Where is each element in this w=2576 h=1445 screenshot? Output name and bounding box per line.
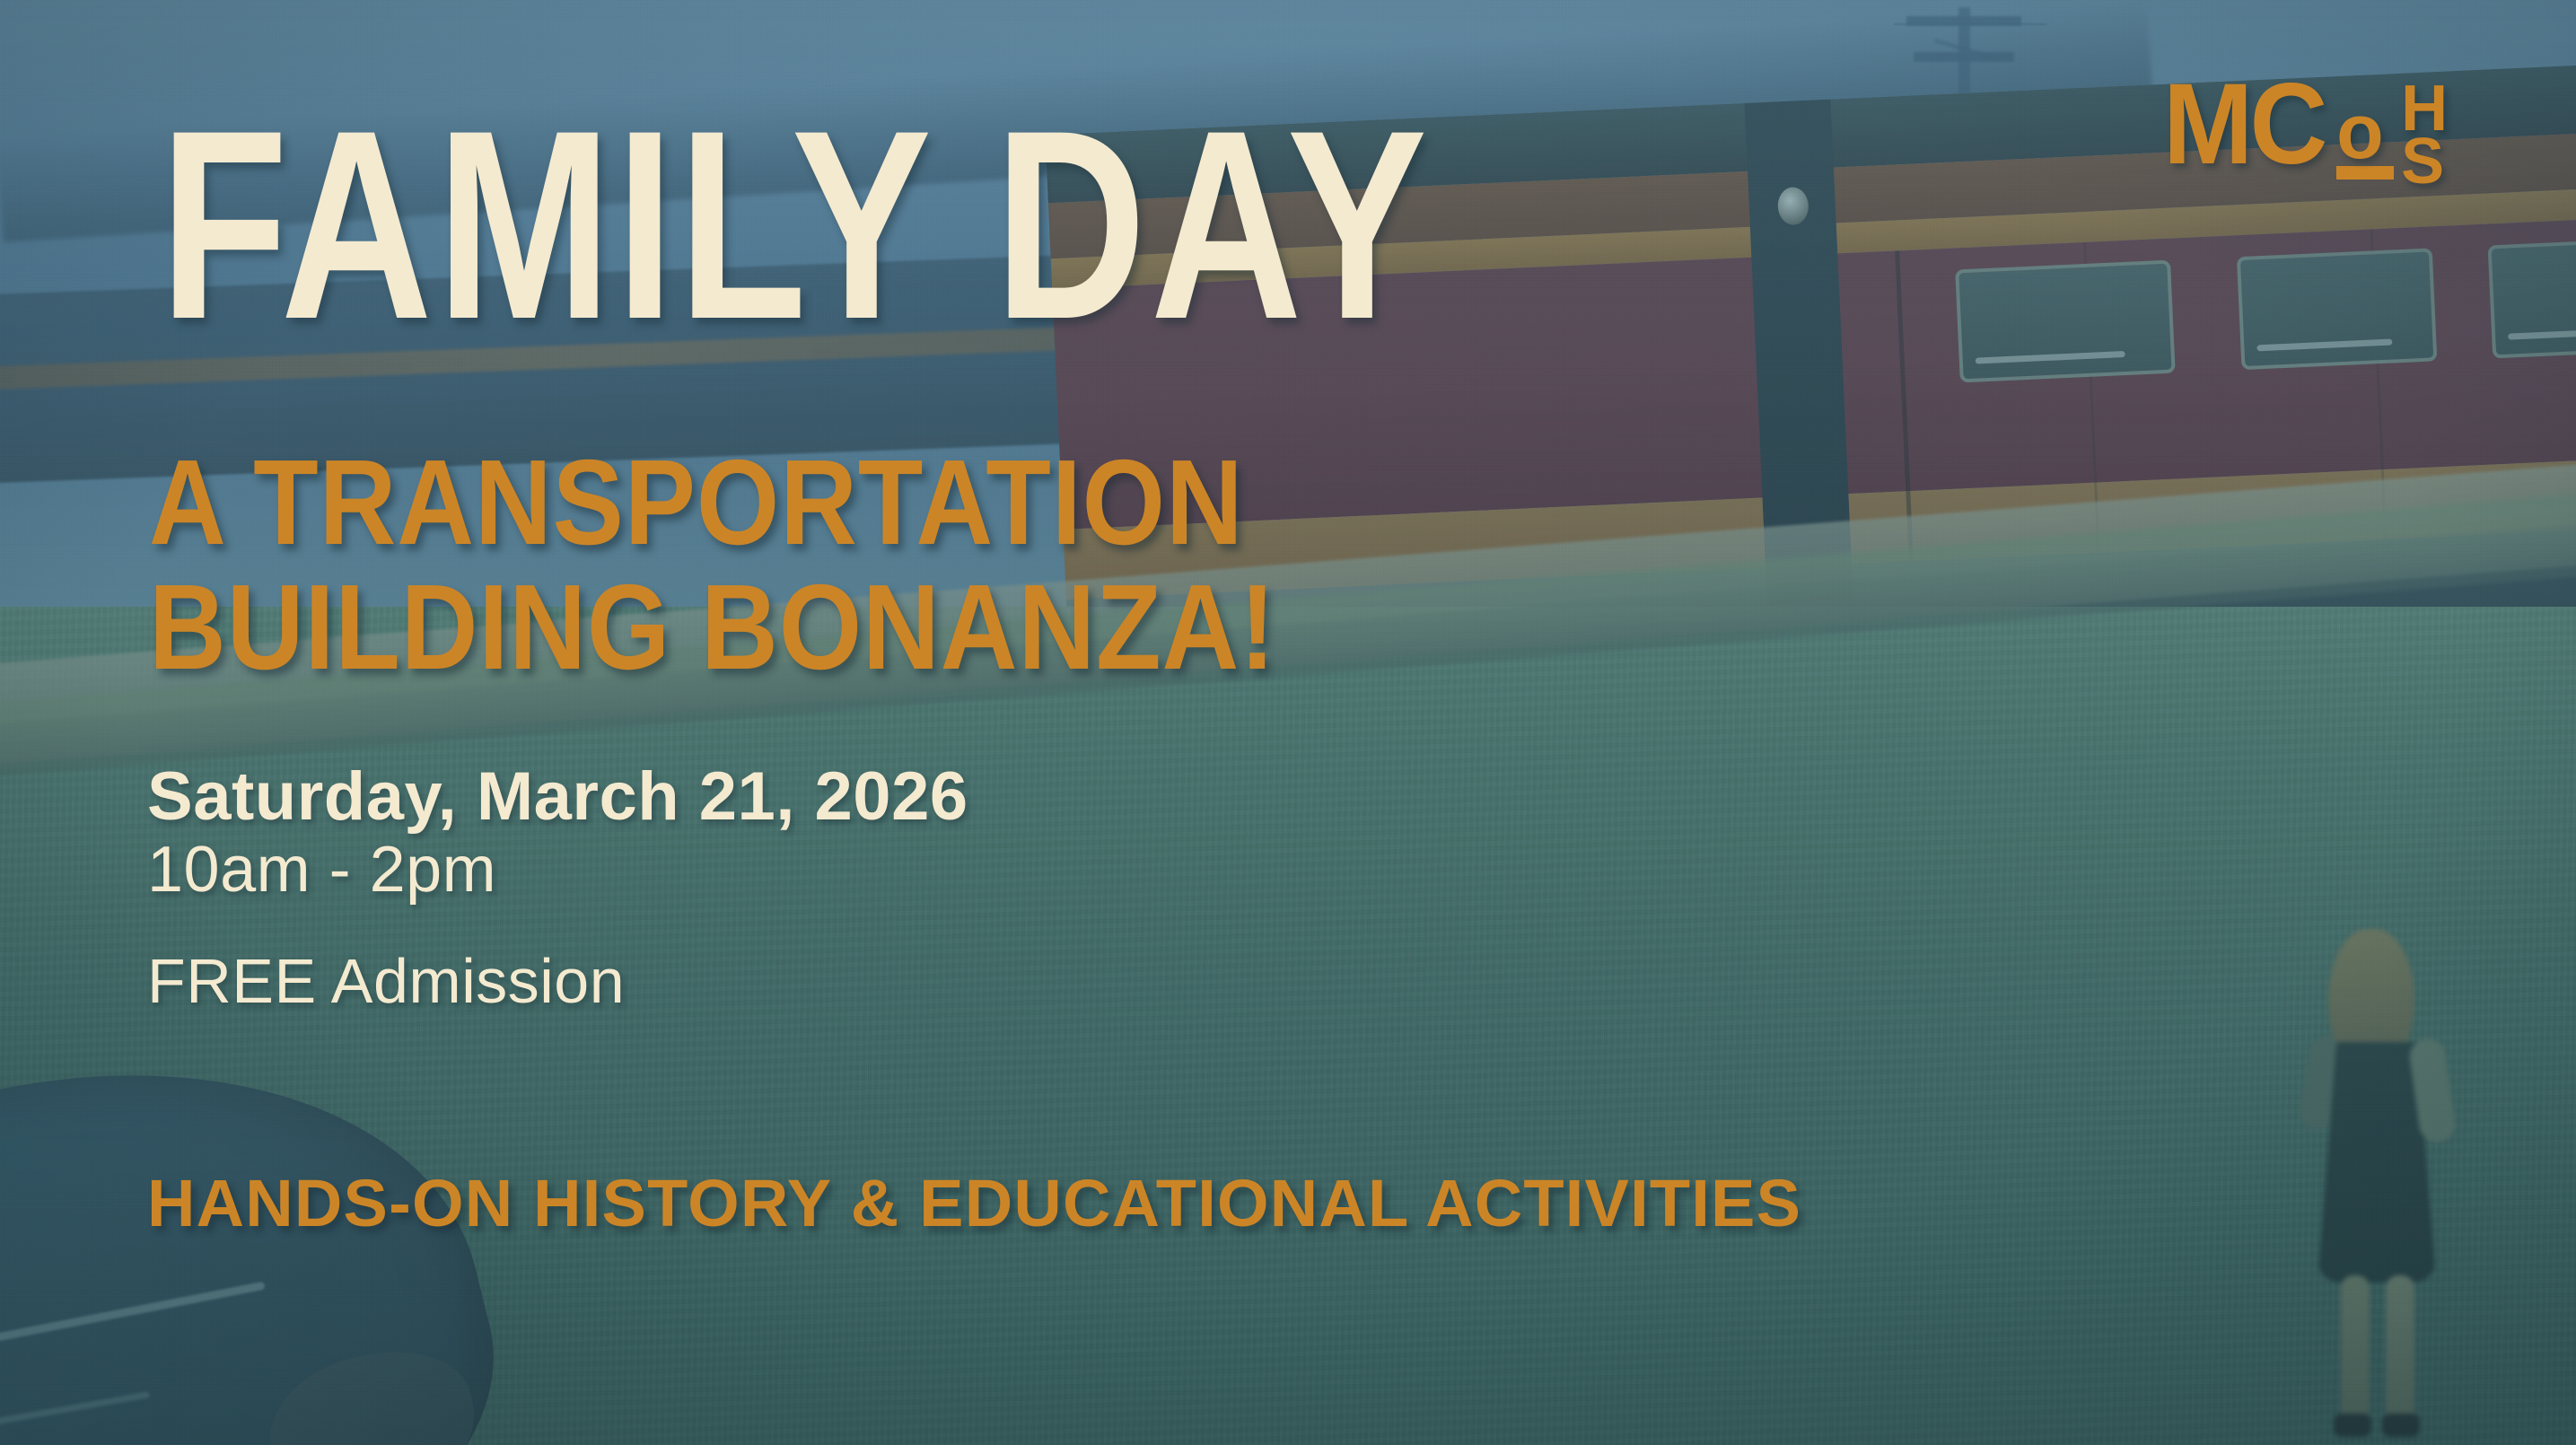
subheadline-line-1: A TRANSPORTATION: [149, 434, 1244, 570]
logo-s-text: S: [2401, 136, 2447, 188]
event-tagline: HANDS-ON HISTORY & EDUCATIONAL ACTIVITIE…: [147, 1165, 1801, 1241]
logo-o-text: o: [2336, 102, 2394, 162]
event-details: Saturday, March 21, 2026 10am - 2pm FREE…: [147, 761, 968, 1016]
flyer-content: FAMILY DAY A TRANSPORTATION BUILDING BON…: [0, 0, 2576, 1445]
organization-logo[interactable]: MC o H S: [2163, 79, 2447, 188]
logo-mc-text: MC: [2163, 79, 2325, 171]
event-flyer: FAMILY DAY A TRANSPORTATION BUILDING BON…: [0, 0, 2576, 1445]
logo-o-group: o: [2336, 102, 2394, 180]
logo-hs-stack: H S: [2401, 83, 2447, 188]
event-time: 10am - 2pm: [147, 834, 968, 906]
subheadline-line-2: BUILDING BONANZA!: [149, 565, 1276, 689]
event-headline: FAMILY DAY: [160, 106, 1432, 343]
event-admission: FREE Admission: [147, 947, 968, 1016]
event-date: Saturday, March 21, 2026: [147, 761, 968, 834]
event-subheadline: A TRANSPORTATION BUILDING BONANZA!: [149, 440, 1276, 689]
